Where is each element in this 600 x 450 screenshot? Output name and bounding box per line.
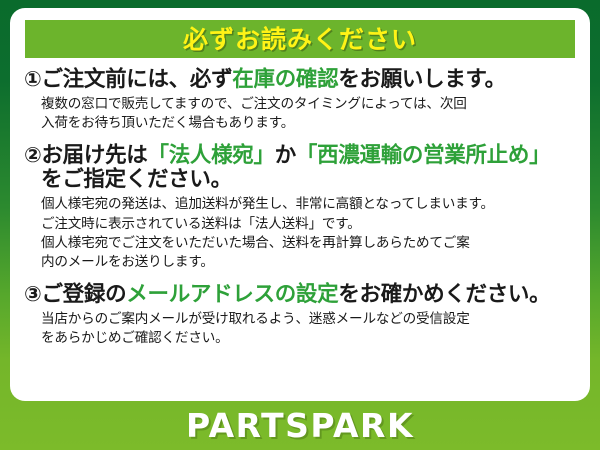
item-2-body-line-2: ご注文時に表示されている送料は「法人送料」です。: [41, 215, 576, 234]
item-3-heading-part-1: ご登録の: [41, 282, 126, 307]
notice-item-3: ③ご登録のメールアドレスの設定をお確かめください。 当店からのご案内メールが受け…: [24, 282, 576, 349]
notice-item-2-heading: ②お届け先は「法人様宛」か「西濃運輸の営業所止め」 をご指定ください。: [24, 143, 576, 194]
item-2-body-line-1: 個人様宅宛の発送は、追加送料が発生し、非常に高額となってしまいます。: [41, 195, 576, 214]
item-2-body-line-3: 個人様宅宛でご注文をいただいた場合、送料を再計算しあらためてご案: [41, 234, 576, 253]
item-2-heading-part-1: お届け先は: [41, 143, 147, 168]
item-2-body-line-4: 内のメールをお送りします。: [41, 253, 576, 272]
notice-item-3-body: 当店からのご案内メールが受け取れるよう、迷惑メールなどの受信設定 をあらかじめご…: [41, 310, 576, 349]
item-marker-1: ①: [24, 67, 41, 91]
footer-band: PARTSPARK: [0, 401, 600, 450]
item-2-heading-part-3: か: [275, 143, 296, 168]
page-title: 必ずお読みください: [183, 27, 417, 52]
item-3-heading-part-3: をお確かめください。: [338, 282, 550, 307]
notice-item-2: ②お届け先は「法人様宛」か「西濃運輸の営業所止め」 をご指定ください。 個人様宅…: [24, 143, 576, 273]
notice-item-1-body: 複数の窓口で販売してますので、ご注文のタイミングによっては、次回 入荷をお待ち頂…: [41, 95, 576, 134]
notice-item-3-heading: ③ご登録のメールアドレスの設定をお確かめください。: [24, 282, 576, 308]
header-bar: 必ずお読みください: [25, 20, 575, 58]
notice-banner: 必ずお読みください ①ご注文前には、必ず在庫の確認をお願いします。 複数の窓口で…: [0, 0, 600, 450]
item-3-heading-highlight: メールアドレスの設定: [126, 282, 338, 307]
notice-card: 必ずお読みください ①ご注文前には、必ず在庫の確認をお願いします。 複数の窓口で…: [10, 8, 590, 401]
item-marker-2: ②: [24, 143, 41, 167]
item-2-heading-line-2: をご指定ください。: [41, 168, 576, 193]
notice-item-1: ①ご注文前には、必ず在庫の確認をお願いします。 複数の窓口で販売してますので、ご…: [24, 67, 576, 134]
item-1-body-line-2: 入荷をお待ち頂いただく場合もあります。: [41, 114, 576, 133]
item-3-body-line-2: をあらかじめご確認ください。: [41, 329, 576, 348]
item-2-heading-highlight-2: 「西濃運輸の営業所止め」: [296, 143, 550, 168]
notice-item-1-heading: ①ご注文前には、必ず在庫の確認をお願いします。: [24, 67, 576, 93]
item-1-body-line-1: 複数の窓口で販売してますので、ご注文のタイミングによっては、次回: [41, 95, 576, 114]
item-1-heading-highlight: 在庫の確認: [232, 67, 338, 92]
item-3-body-line-1: 当店からのご案内メールが受け取れるよう、迷惑メールなどの受信設定: [41, 310, 576, 329]
item-marker-3: ③: [24, 282, 41, 306]
item-1-heading-part-1: ご注文前には、必ず: [41, 67, 232, 92]
item-1-heading-part-3: をお願いします。: [338, 67, 505, 92]
notice-item-2-body: 個人様宅宛の発送は、追加送料が発生し、非常に高額となってしまいます。 ご注文時に…: [41, 195, 576, 272]
brand-logo: PARTSPARK: [186, 409, 414, 442]
item-2-heading-highlight-1: 「法人様宛」: [148, 143, 275, 168]
